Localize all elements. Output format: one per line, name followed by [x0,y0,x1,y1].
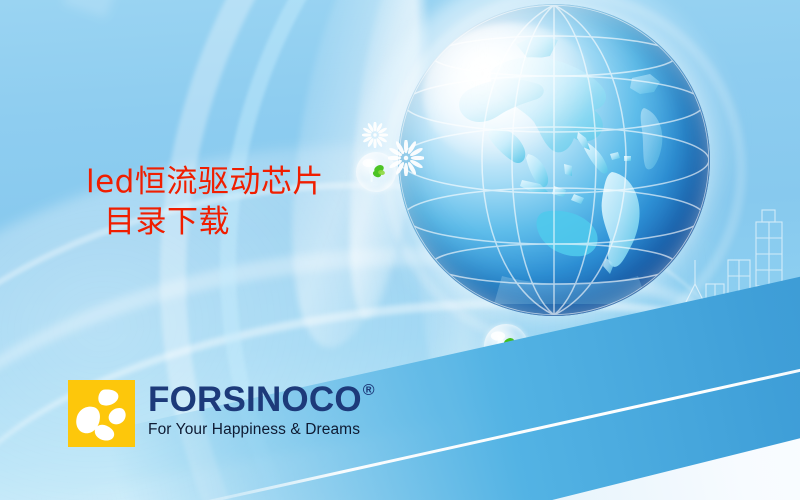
eco-bubble-icon [356,152,396,192]
globe-halo-ring [382,0,746,352]
promo-banner: led恒流驱动芯片 目录下载 FORSINOCO ® For Your Happ… [0,0,800,500]
logo-wordmark-text: FORSINOCO [148,382,362,417]
starburst-flower-icon [362,122,388,148]
page-title: led恒流驱动芯片 目录下载 [86,162,324,243]
logo-text-block: FORSINOCO ® For Your Happiness & Dreams [148,380,375,439]
headline-line-2: 目录下载 [86,202,324,242]
globe-graphic [398,4,710,316]
eco-bubble-contents [356,152,396,192]
logo-wordmark: FORSINOCO ® [148,382,375,417]
eco-bubble-contents [484,324,528,368]
headline-line-1: led恒流驱动芯片 [86,162,324,202]
registered-trademark-icon: ® [363,383,375,399]
logo-tagline: For Your Happiness & Dreams [148,421,375,439]
eco-bubble-icon [484,324,528,368]
four-petal-pinwheel-icon [68,380,135,447]
brand-logo: FORSINOCO ® For Your Happiness & Dreams [68,380,375,447]
